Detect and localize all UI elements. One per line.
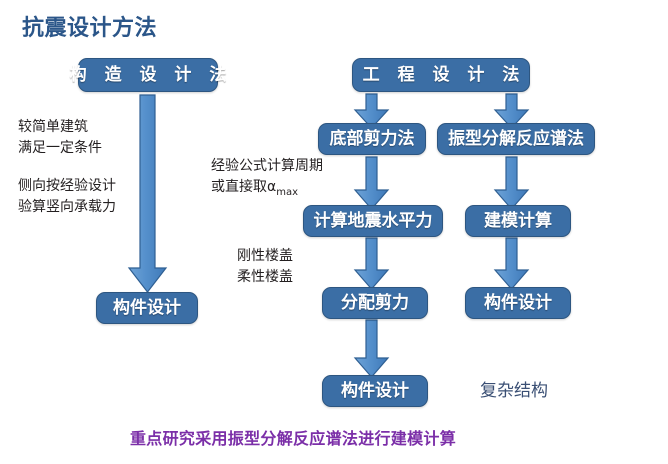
node-modal-response-spectrum-method[interactable]: 振型分解反应谱法 [437,123,595,155]
node-middle-member-design[interactable]: 构件设计 [322,375,428,407]
arrow-modal-to-model [495,157,528,209]
note-left-line-4: 验算竖向承载力 [18,198,116,217]
diagram-canvas: 抗震设计方法 构 造 设 计 法 较简单建筑 满足一定条件 侧向按经验设计 [0,0,668,464]
node-engineering-design-method[interactable]: 工 程 设 计 法 [352,58,530,92]
note-rigid-floor: 刚性楼盖 [237,247,293,266]
page-title: 抗震设计方法 [22,10,157,42]
node-left-member-design[interactable]: 构件设计 [96,292,198,324]
arrow-distribute-to-member [355,320,388,377]
node-base-shear-method[interactable]: 底部剪力法 [318,123,426,155]
note-left-line-1: 较简单建筑 [18,118,88,137]
arrow-base-shear-to-force [355,157,388,209]
node-calc-seismic-horizontal-force[interactable]: 计算地震水平力 [303,205,443,237]
node-distribute-shear[interactable]: 分配剪力 [322,287,428,319]
arrow-force-to-distribute [355,238,388,289]
node-structural-design-method[interactable]: 构 造 设 计 法 [78,58,218,92]
note-period-formula: 经验公式计算周期 [211,157,323,176]
note-alpha-max-prefix: 或直接取α [211,179,276,195]
arrow-model-to-member [495,238,528,289]
note-left-line-3: 侧向按经验设计 [18,177,116,196]
note-alpha-max-subscript: max [276,187,298,198]
label-complex-structure: 复杂结构 [480,376,548,401]
note-flexible-floor: 柔性楼盖 [237,268,293,287]
node-modeling-calculation[interactable]: 建模计算 [465,205,571,237]
node-right-member-design[interactable]: 构件设计 [465,287,571,319]
note-left-line-2: 满足一定条件 [18,139,102,158]
note-alpha-max: 或直接取αmax [211,178,298,199]
arrow-left-long [129,95,166,292]
bottom-caption: 重点研究采用振型分解反应谱法进行建模计算 [130,425,456,449]
